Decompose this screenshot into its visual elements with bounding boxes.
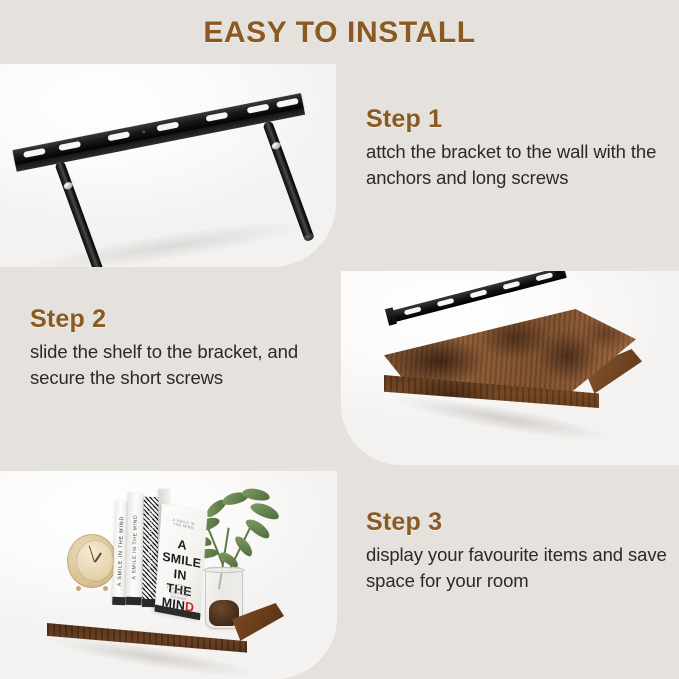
rod-end-cap xyxy=(303,232,315,242)
plant-leaf xyxy=(249,500,281,522)
shelf-with-bracket-illustration xyxy=(341,271,679,465)
styled-shelf-illustration: A SMILE IN THE MIND A SMILE IN THE MIND … xyxy=(0,471,337,679)
wall-bracket-illustration xyxy=(0,64,336,267)
bracket-slot xyxy=(276,98,299,108)
book-spine-title: A SMILE IN THE MIND xyxy=(116,503,125,599)
bracket-slot xyxy=(58,141,81,151)
bracket-slot xyxy=(404,306,422,315)
step-3-heading: Step 3 xyxy=(366,508,671,537)
step-1-text: Step 1 attch the bracket to the wall wit… xyxy=(366,105,666,191)
step-2-heading: Step 2 xyxy=(30,305,320,334)
step-2-image xyxy=(341,271,679,465)
clock-foot-left xyxy=(76,586,81,591)
page-title: EASY TO INSTALL xyxy=(0,16,679,50)
step-1-heading: Step 1 xyxy=(366,105,666,134)
bracket-slot xyxy=(535,272,553,281)
bracket-bar xyxy=(12,93,304,166)
bracket-slot xyxy=(205,112,228,122)
wooden-clock xyxy=(67,534,117,588)
clock-foot-right xyxy=(103,586,108,591)
rod-bolt xyxy=(62,181,73,191)
plant-leaf xyxy=(241,487,270,503)
bracket-slot xyxy=(23,148,46,158)
bracket-tab-right xyxy=(552,271,564,275)
book-cover-title-line1: A SMILE xyxy=(162,537,202,571)
bracket-slot xyxy=(470,289,488,298)
bracket-slot xyxy=(156,121,179,131)
bracket-tab-left xyxy=(385,307,397,325)
bracket-screw-hole xyxy=(142,130,146,134)
bracket-slot xyxy=(437,298,455,307)
rod-bolt xyxy=(270,141,281,151)
step-1-body: attch the bracket to the wall with the a… xyxy=(366,139,666,191)
step-3-text: Step 3 display your favourite items and … xyxy=(366,508,671,594)
bracket-slot xyxy=(107,131,130,141)
mounted-bracket xyxy=(389,271,566,323)
bracket-shadow xyxy=(22,211,312,267)
step-1-image xyxy=(0,64,336,267)
bracket-slot xyxy=(247,104,270,114)
infographic-root: EASY TO INSTALL xyxy=(0,0,679,679)
vase-rim xyxy=(203,567,245,573)
book-spine-title: A SMILE IN THE MIND xyxy=(131,497,140,597)
step-3-image: A SMILE IN THE MIND A SMILE IN THE MIND … xyxy=(0,471,337,679)
step-2-body: slide the shelf to the bracket, and secu… xyxy=(30,339,320,391)
book-cover-kicker: A SMILE IN THE MIND xyxy=(169,517,199,531)
step-2-text: Step 2 slide the shelf to the bracket, a… xyxy=(30,305,320,391)
step-3-body: display your favourite items and save sp… xyxy=(366,542,671,594)
bracket-slot xyxy=(503,281,521,290)
book-spine-title: A SMILE IN THE MIND xyxy=(147,496,155,586)
